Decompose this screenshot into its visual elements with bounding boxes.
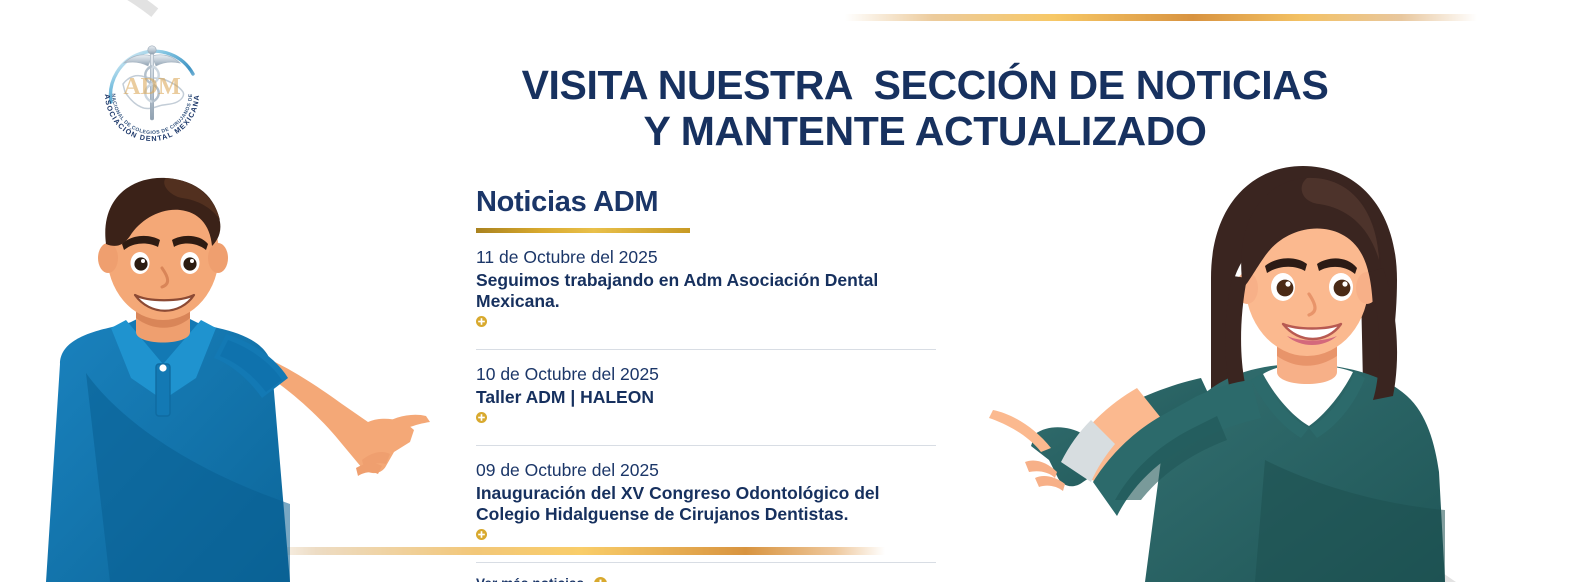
news-divider [476,445,936,446]
news-item[interactable]: 10 de Octubre del 2025 Taller ADM | HALE… [476,363,946,437]
gold-rule-top [845,14,1477,21]
news-item[interactable]: 09 de Octubre del 2025 Inauguración del … [476,459,946,554]
man-pointing-right-illustration [0,168,460,582]
woman-pointing-left-illustration [965,160,1465,582]
headline-line-2: Y MANTENTE ACTUALIZADO [430,108,1420,154]
news-item-headline: Seguimos trabajando en Adm Asociación De… [476,270,946,312]
plus-circle-icon[interactable] [594,577,607,582]
news-divider [476,562,936,563]
page-title: VISITA NUESTRA SECCIÓN DE NOTICIAS Y MAN… [430,62,1420,154]
news-item-date: 09 de Octubre del 2025 [476,459,946,482]
see-more-news-label: Ver más noticias [476,576,584,582]
news-title-underline [476,228,690,233]
news-divider [476,349,936,350]
plus-circle-icon[interactable] [476,316,487,327]
see-more-news-link[interactable]: Ver más noticias [476,576,946,582]
news-panel-title: Noticias ADM [476,186,946,219]
plus-circle-icon[interactable] [476,529,487,540]
news-item-headline: Inauguración del XV Congreso Odontológic… [476,483,946,525]
news-item-headline: Taller ADM | HALEON [476,387,946,408]
adm-logo: ADM ASOCIACIÓN DENTAL MEXICANA FEDERACIÓ… [93,22,211,150]
plus-circle-icon[interactable] [476,412,487,423]
adm-monogram: ADM [123,74,180,100]
news-item[interactable]: 11 de Octubre del 2025 Seguimos trabajan… [476,246,946,341]
news-panel: Noticias ADM 11 de Octubre del 2025 Segu… [476,186,946,582]
news-item-date: 10 de Octubre del 2025 [476,363,946,386]
headline-line-1: VISITA NUESTRA SECCIÓN DE NOTICIAS [430,62,1420,108]
decorative-frame-arc-bottom-right [1324,153,1583,582]
news-promo-banner: ADM ASOCIACIÓN DENTAL MEXICANA FEDERACIÓ… [0,0,1583,582]
news-item-date: 11 de Octubre del 2025 [476,246,946,269]
